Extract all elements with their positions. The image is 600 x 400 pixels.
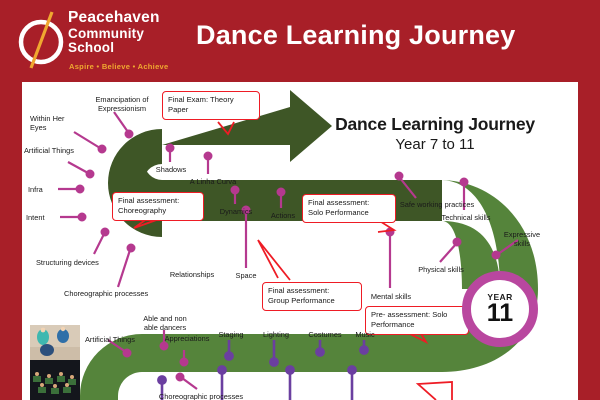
journey-label: Shadows [148, 165, 194, 174]
journey-canvas: Dance Learning Journey Year 7 to 11 [22, 82, 578, 400]
journey-label: Choreographic processes [64, 289, 164, 298]
school-motto: Aspire • Believe • Achieve [69, 62, 168, 71]
group-stage-performance-photo [30, 360, 80, 400]
school-logo: Peacehaven Community School Aspire • Bel… [14, 8, 189, 74]
journey-label: A Linha Curva [182, 177, 244, 186]
dance-learning-journey-poster: Peacehaven Community School Aspire • Bel… [0, 0, 600, 400]
journey-label: Relationships [162, 270, 222, 279]
journey-label: Costumes [300, 330, 350, 339]
journey-label: Actions [262, 211, 304, 220]
journey-label: Staging [209, 330, 253, 339]
journey-label: Emancipation of Expressionism [80, 95, 164, 113]
circle-with-diagonal-stroke-logo-icon [14, 10, 70, 70]
journey-label: Expressive skills [496, 230, 548, 248]
journey-label: Music [346, 330, 384, 339]
journey-label: Mental skills [362, 292, 420, 301]
journey-label: Within Her Eyes [30, 114, 86, 132]
school-name-line-2: Community [68, 27, 160, 42]
journey-label: Artificial Things [24, 146, 96, 155]
journey-label: Lighting [254, 330, 298, 339]
assessment-callout: Final Exam: Theory Paper [162, 91, 260, 120]
poster-header: Peacehaven Community School Aspire • Bel… [0, 0, 600, 82]
journey-label: Dynamics [212, 207, 260, 216]
journey-label: Technical skills [432, 213, 500, 222]
assessment-callout: Final assessment: Group Performance [262, 282, 362, 311]
journey-label: Structuring devices [36, 258, 116, 267]
journey-label: Infra [28, 185, 58, 194]
page-title: Dance Learning Journey [196, 20, 588, 51]
journey-title: Dance Learning Journey [310, 114, 560, 135]
dancers-with-wheelchair-photo [30, 325, 80, 360]
journey-label: Choreographic processes [146, 392, 256, 400]
journey-label: Artificial Things [76, 335, 144, 344]
year-badge-number: 11 [487, 302, 513, 326]
school-name-line-3: School [68, 41, 160, 56]
journey-label: Physical skills [410, 265, 472, 274]
year-badge: YEAR 11 [462, 271, 538, 347]
journey-label: Intent [26, 213, 60, 222]
school-name-line-1: Peacehaven [68, 10, 160, 27]
school-name: Peacehaven Community School [68, 10, 160, 56]
journey-label: Safe working practices [390, 200, 484, 209]
assessment-callout: Final assessment: Choreography [112, 192, 204, 221]
journey-label: Able and non able dancers [134, 314, 196, 332]
assessment-callout: Final assessment: Solo Performance [302, 194, 396, 223]
journey-subtitle: Year 7 to 11 [310, 136, 560, 153]
journey-label: Space [228, 271, 264, 280]
